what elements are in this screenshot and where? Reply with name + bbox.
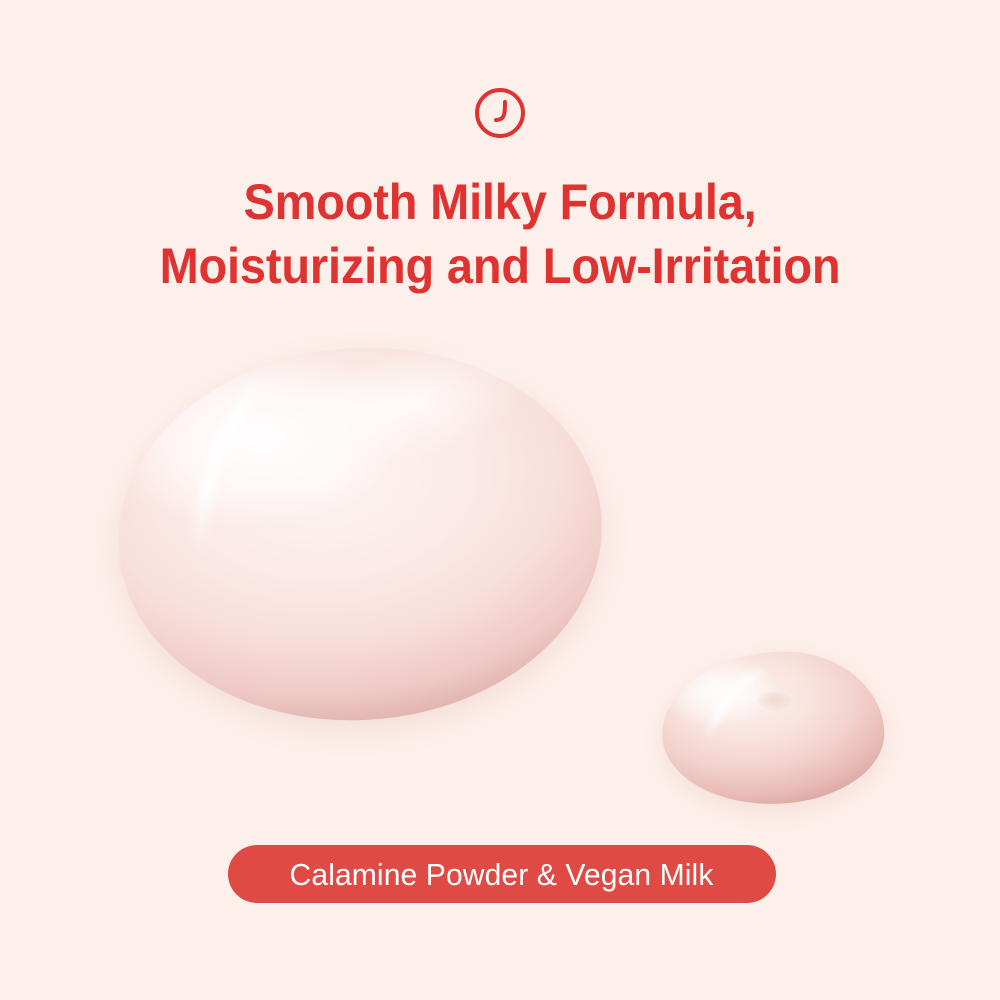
small-cream-droplet [658,646,888,809]
large-cream-droplet [106,332,615,737]
product-feature-banner: Smooth Milky Formula, Moisturizing and L… [0,0,1000,1000]
ingredient-pill: Calamine Powder & Vegan Milk [228,845,776,903]
ingredient-pill-label: Calamine Powder & Vegan Milk [290,859,714,890]
